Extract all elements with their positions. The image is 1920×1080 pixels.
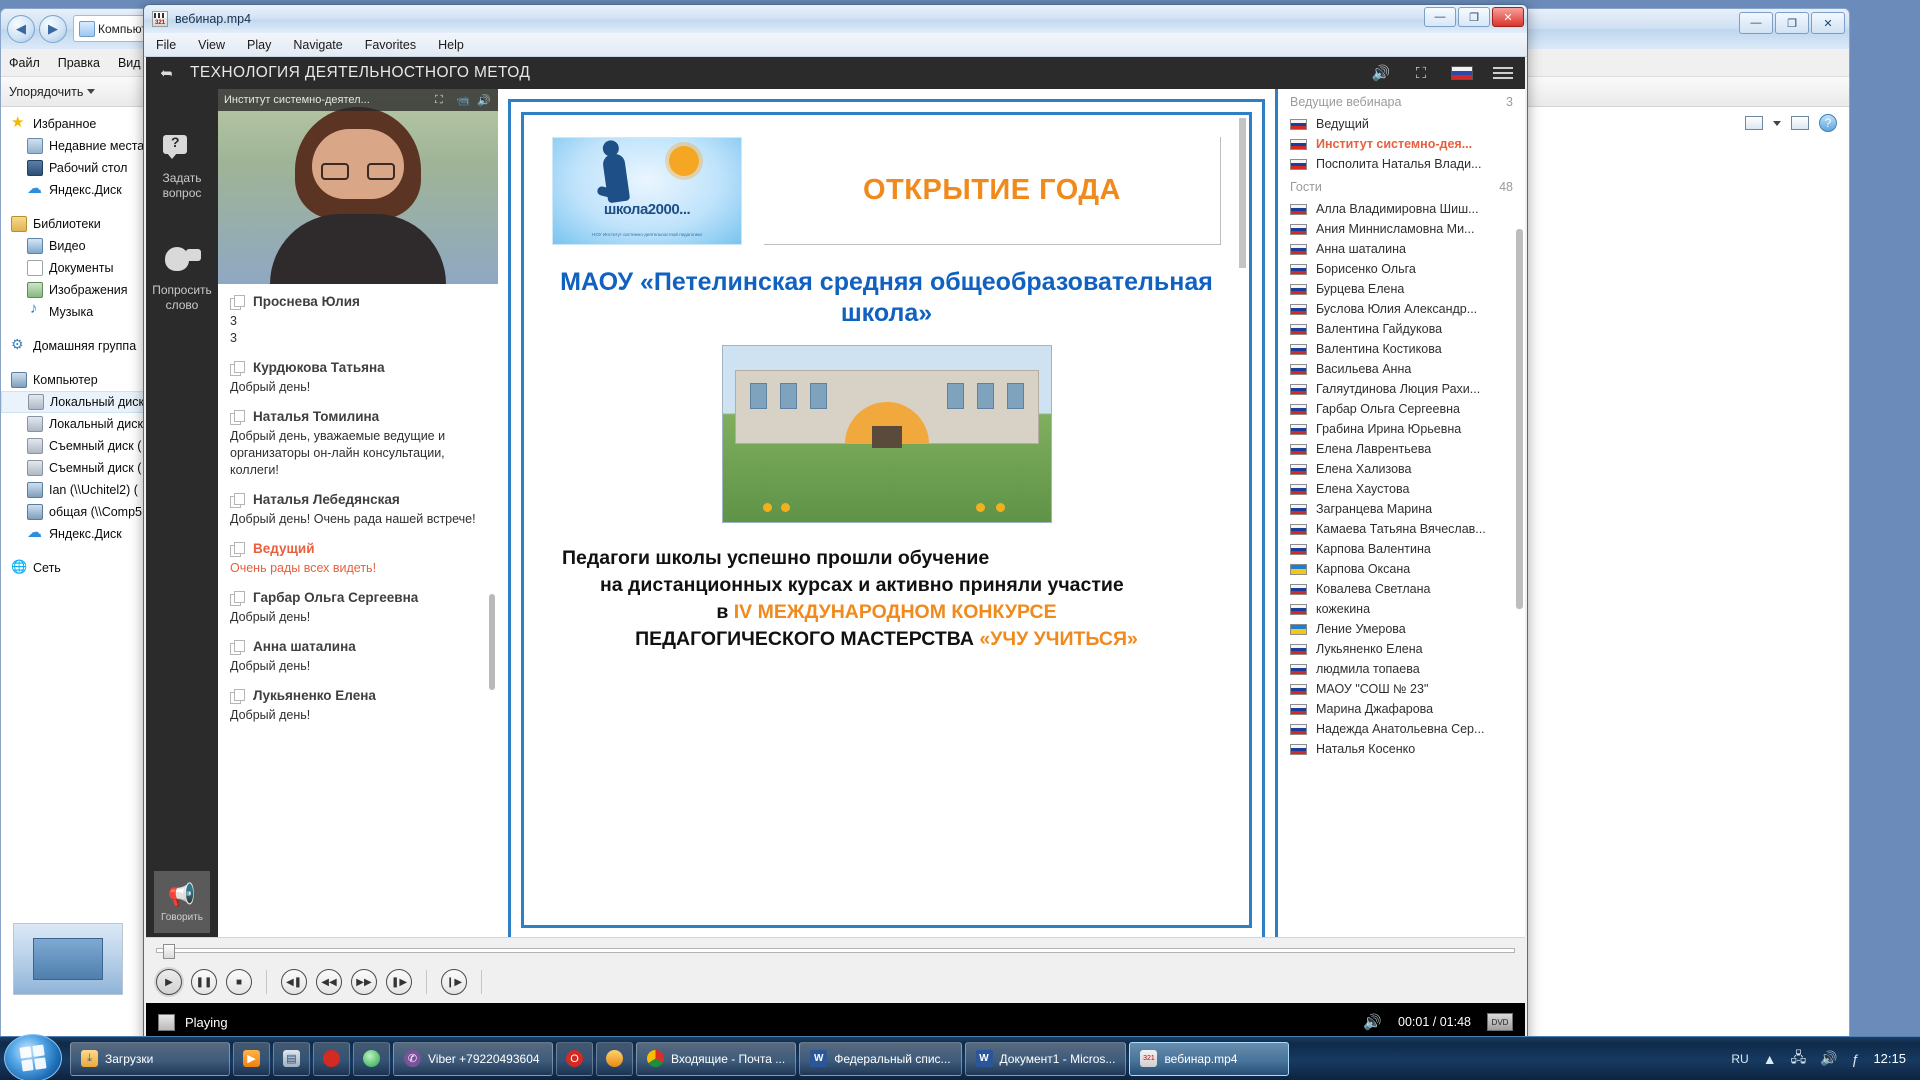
- webinar-title: ТЕХНОЛОГИЯ ДЕЯТЕЛЬНОСТНОГО МЕТОД: [190, 64, 530, 82]
- hdd-icon: [27, 416, 43, 432]
- explorer-view-options: ?: [1729, 107, 1849, 139]
- word-icon: W: [976, 1050, 993, 1067]
- taskbar-item-green-app[interactable]: [353, 1042, 390, 1076]
- taskbar-item-orange-app[interactable]: ▶: [233, 1042, 270, 1076]
- flag-ru-icon: [1290, 544, 1307, 555]
- sidebar-label: Изображения: [49, 283, 128, 297]
- participant-name: Посполита Наталья Влади...: [1316, 157, 1482, 171]
- system-tray: RU ▲ 🖧 🔊 ƒ 12:15: [1731, 1047, 1920, 1071]
- organize-button[interactable]: Упорядочить: [9, 85, 95, 99]
- recent-places-icon: [27, 138, 43, 154]
- slide-line-4-black: ПЕДАГОГИЧЕСКОГО МАСТЕРСТВА: [635, 628, 979, 650]
- seek-bar[interactable]: [146, 937, 1525, 963]
- maximize-button[interactable]: ❐: [1458, 7, 1490, 27]
- participant-name: Анна шаталина: [1316, 242, 1406, 256]
- chat-message: Лукьяненко Елена Добрый день!: [230, 688, 486, 724]
- close-button[interactable]: ✕: [1492, 7, 1524, 27]
- organize-label: Упорядочить: [9, 85, 83, 99]
- mp4-icon: 321: [1140, 1050, 1157, 1067]
- flag-ru-icon: [1290, 644, 1307, 655]
- participant-row[interactable]: Галяутдинова Люция Рахи...: [1278, 379, 1525, 399]
- chat-author: Наталья Лебедянская: [253, 492, 400, 507]
- slide-line-2: на дистанционных курсах и активно принял…: [552, 572, 1221, 599]
- taskbar-item-maxthon[interactable]: [596, 1042, 633, 1076]
- fullscreen-icon[interactable]: ⛶: [1411, 63, 1431, 83]
- participant-name: Наталья Косенко: [1316, 742, 1415, 756]
- forward-button[interactable]: ▶: [39, 15, 67, 43]
- participant-name: Карпова Валентина: [1316, 542, 1431, 556]
- sidebar-item-local-disk-d[interactable]: Локальный диск (: [1, 413, 160, 435]
- clock[interactable]: 12:15: [1873, 1051, 1906, 1066]
- speaker-icon[interactable]: 🔊: [477, 94, 492, 107]
- flag-ru-icon: [1290, 139, 1307, 150]
- network-drive-icon: [27, 504, 43, 520]
- taskbar-label: Загрузки: [105, 1052, 153, 1066]
- slide-scrollbar[interactable]: [1239, 118, 1246, 268]
- taskbar-item-red-app[interactable]: [313, 1042, 350, 1076]
- taskbar-item-word-1[interactable]: WФедеральный спис...: [799, 1042, 961, 1076]
- request-floor-label-1: Попросить: [152, 283, 212, 298]
- previous-button[interactable]: ◀❚: [281, 969, 307, 995]
- ask-question-label-1: Задать: [162, 171, 201, 186]
- star-icon: [11, 116, 27, 132]
- chat-scrollbar[interactable]: [489, 594, 495, 690]
- explorer-sidebar[interactable]: Избранное Недавние места Рабочий стол Ян…: [1, 107, 161, 1047]
- speak-button[interactable]: 📢 Говорить: [154, 871, 210, 933]
- chat-author: Лукьяненко Елена: [253, 688, 376, 703]
- participant-name: Марина Джафарова: [1316, 702, 1433, 716]
- sidebar-item-yandex-disk-2[interactable]: Яндекс.Диск: [1, 523, 160, 545]
- flag-ru-icon: [1290, 744, 1307, 755]
- player-titlebar: вебинар.mp4 — ❐ ✕: [144, 5, 1527, 33]
- participant-name: Ведущий: [1316, 117, 1369, 131]
- computer-icon: [11, 372, 27, 388]
- sidebar-item-libraries[interactable]: Библиотеки: [1, 213, 160, 235]
- guests-section-header: Гости 48: [1278, 174, 1525, 199]
- taskbar-item-viber[interactable]: ✆Viber +79220493604: [393, 1042, 553, 1076]
- taskbar-item-word-2[interactable]: WДокумент1 - Micros...: [965, 1042, 1127, 1076]
- sidebar-item-removable-2[interactable]: Съемный диск (: [1, 457, 160, 479]
- sidebar-label: Съемный диск (: [49, 439, 141, 453]
- participant-row[interactable]: Марина Джафарова: [1278, 699, 1525, 719]
- chat-message: Наталья Лебедянская Добрый день! Очень р…: [230, 492, 486, 528]
- participant-row[interactable]: Институт системно-дея...: [1278, 134, 1525, 154]
- expand-icon[interactable]: ⛶: [435, 94, 450, 107]
- taskbar: ⤓Загрузки ▶ ▤ ✆Viber +79220493604 O Вход…: [0, 1036, 1920, 1080]
- video-file-icon: [152, 11, 168, 27]
- participant-row[interactable]: Валентина Гайдукова: [1278, 319, 1525, 339]
- desktop-icon: [27, 160, 43, 176]
- opera-icon: O: [566, 1050, 583, 1067]
- participant-row[interactable]: Васильева Анна: [1278, 359, 1525, 379]
- participant-row[interactable]: Бурцева Елена: [1278, 279, 1525, 299]
- sidebar-label: Компьютер: [33, 373, 98, 387]
- flag-ru-icon: [1290, 284, 1307, 295]
- guest-list[interactable]: Алла Владимировна Шиш...Ания Миннисламов…: [1278, 199, 1525, 759]
- avatar: [230, 361, 244, 375]
- sidebar-label: Документы: [49, 261, 113, 275]
- player-status-text: Playing: [185, 1015, 228, 1030]
- chrome-icon: [647, 1050, 664, 1067]
- participant-name: Елена Хализова: [1316, 462, 1411, 476]
- sidebar-label: Локальный диск: [50, 395, 144, 409]
- participant-row[interactable]: Лукьяненко Елена: [1278, 639, 1525, 659]
- network-icon[interactable]: 🖧: [1791, 1047, 1807, 1071]
- sidebar-label: Видео: [49, 239, 86, 253]
- ask-question-button[interactable]: ? Задать вопрос: [146, 131, 218, 201]
- chat-text: Добрый день!: [230, 658, 486, 675]
- volume-icon[interactable]: 🔊: [1363, 1013, 1382, 1031]
- show-hidden-icon[interactable]: ▲: [1763, 1051, 1777, 1067]
- taskbar-item-downloads[interactable]: ⤓Загрузки: [70, 1042, 230, 1076]
- flag-ru-icon: [1290, 404, 1307, 415]
- removable-icon: [27, 438, 43, 454]
- speak-label: Говорить: [161, 912, 203, 923]
- sidebar-item-network[interactable]: Сеть: [1, 557, 160, 579]
- minimize-button[interactable]: —: [1424, 7, 1456, 27]
- sidebar-item-video[interactable]: Видео: [1, 235, 160, 257]
- camera-icon[interactable]: 📹: [456, 94, 471, 107]
- participant-row[interactable]: Елена Хаустова: [1278, 479, 1525, 499]
- taskbar-item-save[interactable]: ▤: [273, 1042, 310, 1076]
- word-icon: W: [810, 1050, 827, 1067]
- taskbar-label: Федеральный спис...: [834, 1052, 950, 1066]
- hdd-icon: [28, 394, 44, 410]
- close-button[interactable]: ✕: [1811, 12, 1845, 34]
- red-app-icon: [323, 1050, 340, 1067]
- raise-hand-icon: [163, 243, 201, 277]
- ask-question-label-2: вопрос: [163, 186, 202, 201]
- cloud-icon: [27, 182, 43, 198]
- participant-name: Гарбар Ольга Сергеевна: [1316, 402, 1460, 416]
- player-controls: ▶ ❚❚ ■ ◀❚ ◀◀ ▶▶ ❚▶ ❙▶: [146, 963, 1525, 1001]
- participant-row[interactable]: Ания Миннисламовна Ми...: [1278, 219, 1525, 239]
- chat-author: Анна шаталина: [253, 639, 356, 654]
- presenter-name: Институт системно-деятел...: [224, 94, 429, 106]
- taskbar-item-player[interactable]: 321вебинар.mp4: [1129, 1042, 1289, 1076]
- sidebar-item-desktop[interactable]: Рабочий стол: [1, 157, 160, 179]
- participant-row[interactable]: Камаева Татьяна Вячеслав...: [1278, 519, 1525, 539]
- chat-text: Добрый день, уважаемые ведущие и организ…: [230, 428, 486, 479]
- homegroup-icon: [11, 338, 27, 354]
- removable-icon: [27, 460, 43, 476]
- sidebar-label: Музыка: [49, 305, 93, 319]
- sidebar-label: Локальный диск (: [49, 417, 151, 431]
- music-icon: [27, 304, 43, 320]
- chat-message-host: Ведущий Очень рады всех видеть!: [230, 541, 486, 577]
- hosts-count: 3: [1506, 95, 1513, 109]
- chat-text: 3 3: [230, 313, 486, 347]
- flag-ru-icon: [1290, 344, 1307, 355]
- participant-row[interactable]: Буслова Юлия Александр...: [1278, 299, 1525, 319]
- next-button[interactable]: ❚▶: [386, 969, 412, 995]
- menu-help[interactable]: Help: [438, 38, 464, 52]
- webinar-body: ? Задать вопрос Попросить слово 📢 Говори…: [146, 89, 1525, 977]
- computer-icon: [79, 21, 95, 37]
- participant-row[interactable]: Елена Лаврентьева: [1278, 439, 1525, 459]
- slide-line-4-highlight: «УЧУ УЧИТЬСЯ»: [979, 628, 1137, 650]
- play-button[interactable]: ▶: [156, 969, 182, 995]
- speaker-icon[interactable]: 🔊: [1371, 63, 1391, 83]
- participant-row[interactable]: Надежда Анатольевна Сер...: [1278, 719, 1525, 739]
- taskbar-label: Документ1 - Micros...: [1000, 1052, 1116, 1066]
- participant-name: Елена Лаврентьева: [1316, 442, 1431, 456]
- school-photo: [722, 345, 1052, 523]
- slide-line-1: Педагоги школы успешно прошли обучение: [552, 545, 1221, 572]
- sidebar-item-homegroup[interactable]: Домашняя группа: [1, 335, 160, 357]
- sidebar-item-network-shared[interactable]: общая (\\Comp5: [1, 501, 160, 523]
- avatar: [230, 410, 244, 424]
- green-app-icon: [363, 1050, 380, 1067]
- slide-line-3-prefix: в: [716, 601, 733, 623]
- hosts-section-header: Ведущие вебинара 3: [1278, 89, 1525, 114]
- participant-name: Валентина Костикова: [1316, 342, 1442, 356]
- flag-ru-icon: [1290, 324, 1307, 335]
- file-thumbnail: [13, 923, 123, 995]
- sidebar-label: Яндекс.Диск: [49, 183, 122, 197]
- chat-author: Гарбар Ольга Сергеевна: [253, 590, 418, 605]
- menu-icon[interactable]: [1493, 63, 1513, 83]
- chat-author: Наталья Томилина: [253, 409, 379, 424]
- participant-row[interactable]: Елена Хализова: [1278, 459, 1525, 479]
- participant-row[interactable]: Ление Умерова: [1278, 619, 1525, 639]
- participant-name: Галяутдинова Люция Рахи...: [1316, 382, 1480, 396]
- participants-panel[interactable]: Ведущие вебинара 3 Ведущий Институт сист…: [1275, 89, 1525, 977]
- flag-ru-icon: [1290, 424, 1307, 435]
- flag-ru-icon: [1290, 584, 1307, 595]
- flag-ru-icon: [1290, 684, 1307, 695]
- megaphone-icon: 📢: [168, 882, 195, 908]
- request-floor-label-2: слово: [166, 298, 199, 313]
- sidebar-label: Ian (\\Uchitel2) (: [49, 483, 138, 497]
- sidebar-item-images[interactable]: Изображения: [1, 279, 160, 301]
- flash-icon[interactable]: ƒ: [1852, 1051, 1860, 1067]
- sidebar-item-music[interactable]: Музыка: [1, 301, 160, 323]
- participant-row[interactable]: Наталья Косенко: [1278, 739, 1525, 759]
- participant-row[interactable]: Алла Владимировна Шиш...: [1278, 199, 1525, 219]
- sidebar-label: Избранное: [33, 117, 96, 131]
- participant-name: Грабина Ирина Юрьевна: [1316, 422, 1461, 436]
- slide-frame-outer: школа2000... НОУ Институт системно-деяте…: [508, 99, 1265, 941]
- sidebar-item-computer[interactable]: Компьютер: [1, 369, 160, 391]
- slide-area: школа2000... НОУ Институт системно-деяте…: [498, 89, 1275, 977]
- cloud-icon: [27, 526, 43, 542]
- help-icon[interactable]: ?: [1819, 114, 1837, 132]
- chevron-down-icon[interactable]: [1773, 121, 1781, 126]
- participant-row[interactable]: Ковалева Светлана: [1278, 579, 1525, 599]
- slide-line-3-highlight: IV МЕЖДУНАРОДНОМ КОНКУРСЕ: [734, 601, 1057, 623]
- participant-name: людмила топаева: [1316, 662, 1420, 676]
- participant-row[interactable]: Посполита Наталья Влади...: [1278, 154, 1525, 174]
- maxthon-icon: [606, 1050, 623, 1067]
- frame-step-button[interactable]: ❙▶: [441, 969, 467, 995]
- flag-ru-icon: [1290, 484, 1307, 495]
- participant-row[interactable]: людмила топаева: [1278, 659, 1525, 679]
- back-button[interactable]: ◀: [7, 15, 35, 43]
- menu-view[interactable]: Вид: [118, 56, 141, 70]
- participant-row[interactable]: кожекина: [1278, 599, 1525, 619]
- explorer-nav-buttons: ◀ ▶: [7, 15, 67, 43]
- avatar: [230, 542, 244, 556]
- chat-message: Гарбар Ольга Сергеевна Добрый день!: [230, 590, 486, 626]
- slide-title: ОТКРЫТИЕ ГОДА: [863, 174, 1121, 207]
- chat-message: Проснева Юлия 3 3: [230, 294, 486, 347]
- slide-title-box: ОТКРЫТИЕ ГОДА: [764, 137, 1221, 245]
- sidebar-item-network-lan[interactable]: Ian (\\Uchitel2) (: [1, 479, 160, 501]
- rewind-button[interactable]: ◀◀: [316, 969, 342, 995]
- flag-ru-icon: [1290, 159, 1307, 170]
- participant-name: Надежда Анатольевна Сер...: [1316, 722, 1484, 736]
- start-button[interactable]: [4, 1034, 62, 1080]
- share-icon[interactable]: [160, 64, 178, 82]
- save-icon: ▤: [283, 1050, 300, 1067]
- player-menubar: File View Play Navigate Favorites Help: [144, 33, 1527, 57]
- taskbar-item-opera[interactable]: O: [556, 1042, 593, 1076]
- chat-text: Добрый день!: [230, 379, 486, 396]
- chat-text: Добрый день! Очень рада нашей встрече!: [230, 511, 486, 528]
- sidebar-label: Съемный диск (: [49, 461, 141, 475]
- chat-text: Добрый день!: [230, 707, 486, 724]
- school2000-logo: школа2000... НОУ Институт системно-деяте…: [552, 137, 742, 245]
- minimize-button[interactable]: —: [1739, 12, 1773, 34]
- participant-row[interactable]: Карпова Валентина: [1278, 539, 1525, 559]
- chat-message: Наталья Томилина Добрый день, уважаемые …: [230, 409, 486, 479]
- chat-author: Ведущий: [253, 541, 315, 556]
- chat-author: Курдюкова Татьяна: [253, 360, 385, 375]
- forward-button[interactable]: ▶▶: [351, 969, 377, 995]
- participant-name: Бурцева Елена: [1316, 282, 1404, 296]
- menu-file[interactable]: File: [156, 38, 176, 52]
- participant-name: Карпова Оксана: [1316, 562, 1410, 576]
- logo-brand: школа2000...: [553, 201, 741, 218]
- slide-header: школа2000... НОУ Институт системно-деяте…: [552, 137, 1221, 245]
- participant-name: Алла Владимировна Шиш...: [1316, 202, 1479, 216]
- participant-row[interactable]: Валентина Костикова: [1278, 339, 1525, 359]
- participant-name: Борисенко Ольга: [1316, 262, 1416, 276]
- participant-row[interactable]: Карпова Оксана: [1278, 559, 1525, 579]
- logo-subtitle: НОУ Институт системно-деятельностной пед…: [553, 232, 741, 238]
- orange-app-icon: ▶: [243, 1050, 260, 1067]
- sidebar-item-local-disk-c[interactable]: Локальный диск: [1, 391, 160, 413]
- menu-file[interactable]: Файл: [9, 56, 40, 70]
- slide-body-text: Педагоги школы успешно прошли обучение н…: [552, 545, 1221, 653]
- menu-edit[interactable]: Правка: [58, 56, 100, 70]
- participant-row[interactable]: Ведущий: [1278, 114, 1525, 134]
- participant-row[interactable]: МАОУ "СОШ № 23": [1278, 679, 1525, 699]
- sidebar-item-favorites[interactable]: Избранное: [1, 113, 160, 135]
- guests-count: 48: [1499, 180, 1513, 194]
- document-icon: [27, 260, 43, 276]
- sidebar-item-removable-1[interactable]: Съемный диск (: [1, 435, 160, 457]
- video-area: ТЕХНОЛОГИЯ ДЕЯТЕЛЬНОСТНОГО МЕТОД 🔊 ⛶ ? З…: [146, 57, 1525, 977]
- presenter-video[interactable]: Институт системно-деятел... ⛶ 📹 🔊: [218, 89, 498, 284]
- menu-favorites[interactable]: Favorites: [365, 38, 416, 52]
- participant-row[interactable]: Грабина Ирина Юрьевна: [1278, 419, 1525, 439]
- image-icon: [27, 282, 43, 298]
- participant-row[interactable]: Борисенко Ольга: [1278, 259, 1525, 279]
- slide-school-name: МАОУ «Петелинская средняя общеобразовате…: [552, 267, 1221, 329]
- participant-name: Ковалева Светлана: [1316, 582, 1430, 596]
- flag-ru-icon: [1290, 704, 1307, 715]
- stop-button[interactable]: ■: [226, 969, 252, 995]
- chat-message: Анна шаталина Добрый день!: [230, 639, 486, 675]
- player-window-buttons: — ❐ ✕: [1424, 7, 1524, 27]
- participants-scrollbar[interactable]: [1516, 229, 1523, 609]
- seek-track[interactable]: [156, 948, 1515, 953]
- sidebar-label: Сеть: [33, 561, 61, 575]
- menu-view[interactable]: View: [198, 38, 225, 52]
- flag-ru-icon: [1290, 384, 1307, 395]
- language-indicator[interactable]: RU: [1731, 1052, 1748, 1066]
- sidebar-label: Библиотеки: [33, 217, 101, 231]
- viber-icon: ✆: [404, 1050, 421, 1067]
- participant-row[interactable]: Анна шаталина: [1278, 239, 1525, 259]
- flag-ru-icon: [1290, 304, 1307, 315]
- participant-name: Ление Умерова: [1316, 622, 1406, 636]
- pause-button[interactable]: ❚❚: [191, 969, 217, 995]
- player-time: 00:01 / 01:48: [1398, 1015, 1471, 1029]
- flag-ru-icon: [1290, 264, 1307, 275]
- chat-message: Курдюкова Татьяна Добрый день!: [230, 360, 486, 396]
- flag-ru-icon[interactable]: [1451, 66, 1473, 80]
- sidebar-label: Рабочий стол: [49, 161, 127, 175]
- windows-logo-icon: [19, 1044, 46, 1071]
- seek-thumb[interactable]: [163, 944, 175, 959]
- view-mode-icon[interactable]: [1745, 116, 1763, 130]
- slide-line-3: в IV МЕЖДУНАРОДНОМ КОНКУРСЕ: [552, 599, 1221, 626]
- chat-text: Очень рады всех видеть!: [230, 560, 486, 577]
- video-overlay-bar: Институт системно-деятел... ⛶ 📹 🔊: [218, 89, 498, 111]
- sidebar-item-yandex-disk[interactable]: Яндекс.Диск: [1, 179, 160, 201]
- flag-ru-icon: [1290, 604, 1307, 615]
- participant-name: Буслова Юлия Александр...: [1316, 302, 1477, 316]
- sidebar-item-documents[interactable]: Документы: [1, 257, 160, 279]
- flag-ru-icon: [1290, 504, 1307, 515]
- flag-ru-icon: [1290, 444, 1307, 455]
- volume-icon[interactable]: 🔊: [1820, 1050, 1837, 1067]
- menu-navigate[interactable]: Navigate: [293, 38, 342, 52]
- flag-ru-icon: [1290, 204, 1307, 215]
- chat-messages[interactable]: Проснева Юлия 3 3 Курдюкова Татьяна Добр…: [218, 284, 498, 939]
- preview-pane-icon[interactable]: [1791, 116, 1809, 130]
- sidebar-item-recent[interactable]: Недавние места: [1, 135, 160, 157]
- flag-ua-icon: [1290, 564, 1307, 575]
- player-title: вебинар.mp4: [175, 12, 251, 26]
- menu-play[interactable]: Play: [247, 38, 271, 52]
- participant-name: МАОУ "СОШ № 23": [1316, 682, 1428, 696]
- participant-row[interactable]: Гарбар Ольга Сергеевна: [1278, 399, 1525, 419]
- dvd-icon: DVD: [1487, 1013, 1513, 1031]
- request-floor-button[interactable]: Попросить слово: [146, 243, 218, 313]
- avatar: [230, 493, 244, 507]
- slide-frame-inner: школа2000... НОУ Институт системно-деяте…: [521, 112, 1252, 928]
- taskbar-label: вебинар.mp4: [1164, 1052, 1237, 1066]
- flag-ru-icon: [1290, 224, 1307, 235]
- flag-ru-icon: [1290, 524, 1307, 535]
- webinar-header-controls: 🔊 ⛶: [1371, 57, 1513, 89]
- maximize-button[interactable]: ❐: [1775, 12, 1809, 34]
- avatar: [230, 689, 244, 703]
- participant-name: Васильева Анна: [1316, 362, 1411, 376]
- participant-row[interactable]: Загранцева Марина: [1278, 499, 1525, 519]
- downloads-icon: ⤓: [81, 1050, 98, 1067]
- slide-line-4: ПЕДАГОГИЧЕСКОГО МАСТЕРСТВА «УЧУ УЧИТЬСЯ»: [552, 626, 1221, 653]
- flag-ru-icon: [1290, 664, 1307, 675]
- chat-text: Добрый день!: [230, 609, 486, 626]
- taskbar-item-mail[interactable]: Входящие - Почта ...: [636, 1042, 796, 1076]
- flag-ru-icon: [1290, 244, 1307, 255]
- explorer-window-buttons: — ❐ ✕: [1739, 12, 1845, 34]
